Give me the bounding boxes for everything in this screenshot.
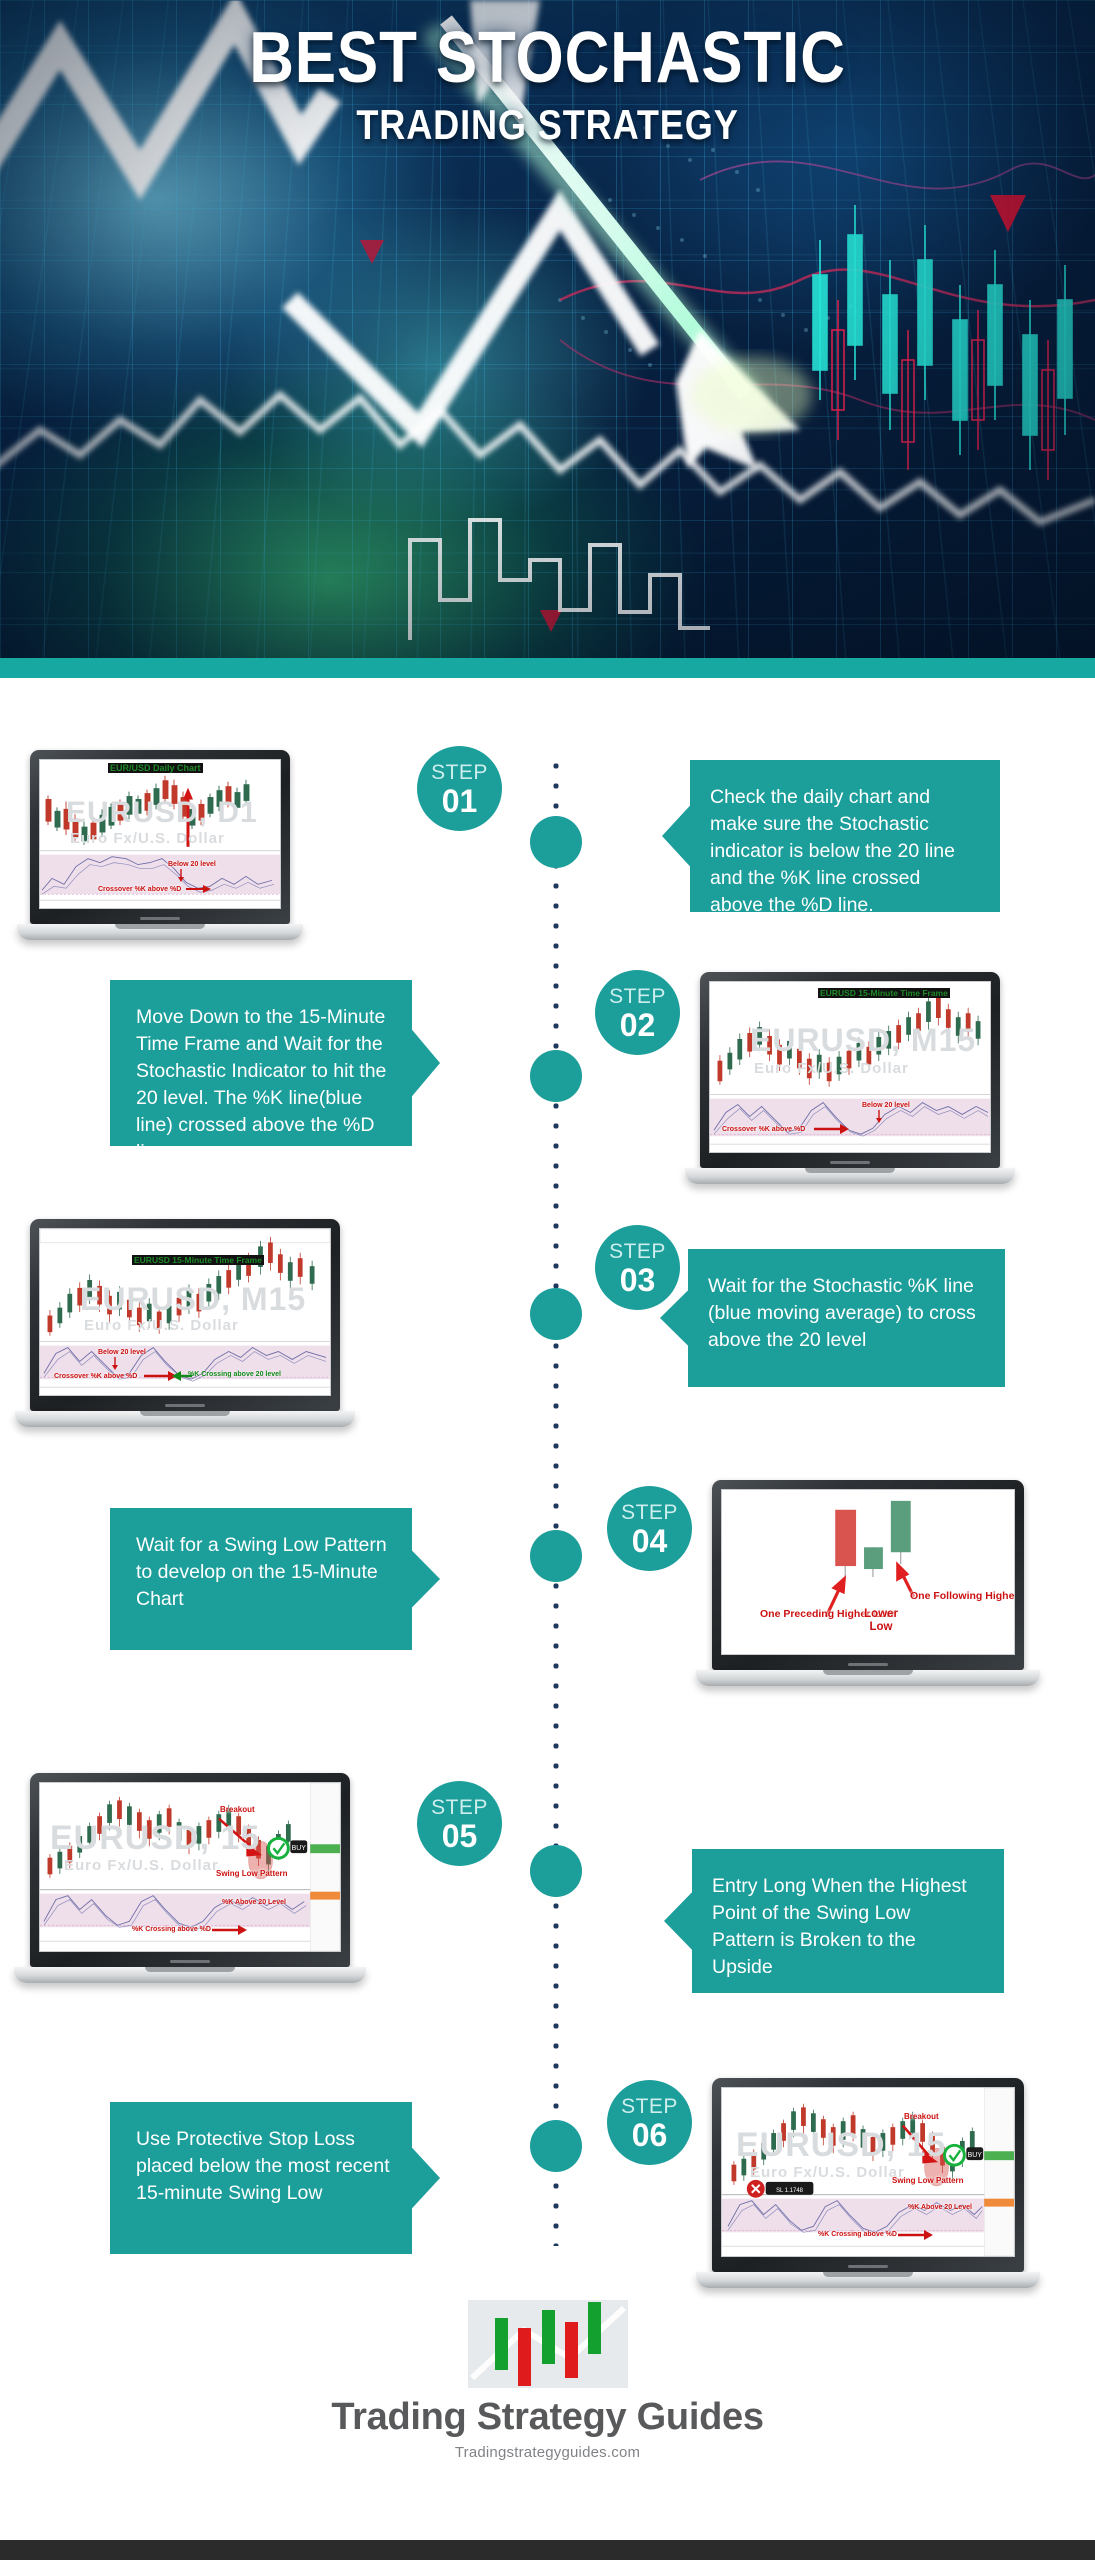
- step-badge-1: STEP 01: [417, 746, 502, 831]
- page-title: BEST STOCHASTIC: [77, 24, 1019, 93]
- step-callout-3: Wait for the Stochastic %K line (blue mo…: [660, 1249, 1005, 1387]
- step-badge-number-6: 06: [607, 2120, 692, 2150]
- annotation-k-crossing-5: %K Crossing above %D: [132, 1926, 211, 1933]
- laptop-base-6: [696, 2272, 1040, 2288]
- chart-screen-3: EURUSD 15-Minute Time Frame EURUSD, M15 …: [39, 1228, 331, 1396]
- brand-logo-icon: [468, 2300, 628, 2388]
- step-callout-4: Wait for a Swing Low Pattern to develop …: [110, 1508, 440, 1650]
- svg-text:SL 1.1748: SL 1.1748: [776, 2188, 804, 2194]
- chart-screen-2: EURUSD 15-Minute Time Frame EURUSD, M15 …: [709, 981, 991, 1153]
- step-badge-6: STEP 06: [607, 2080, 692, 2165]
- laptop-mockup-3: EURUSD 15-Minute Time Frame EURUSD, M15 …: [30, 1219, 340, 1427]
- step-badge-label-1: STEP: [417, 761, 502, 785]
- brand-url: Tradingstrategyguides.com: [0, 2444, 1095, 2461]
- chart-screen-5: BUY EURUSD, 15 Euro Fx/U.S. Dollar Break…: [39, 1782, 341, 1952]
- step-callout-6: Use Protective Stop Loss placed below th…: [110, 2102, 440, 2254]
- logo-candlestick-glyph: [468, 2300, 628, 2388]
- brand-name: Trading Strategy Guides: [0, 2396, 1095, 2439]
- timeline-node-1: [530, 816, 582, 868]
- hero-title-block: BEST STOCHASTIC TRADING STRATEGY: [0, 24, 1095, 149]
- step-badge-label-4: STEP: [607, 1501, 692, 1525]
- laptop-base-1: [17, 924, 303, 940]
- chart-label-title-3: EURUSD 15-Minute Time Frame: [132, 1255, 264, 1265]
- teal-divider-band: [0, 658, 1095, 678]
- laptop-mockup-6: BUY SL 1.1748 EURUSD, 15 Euro: [712, 2078, 1024, 2288]
- annotation-arrow-down-3: [106, 1357, 124, 1371]
- annotation-lower-low: Lower Low: [859, 1608, 903, 1634]
- step-badge-label-5: STEP: [417, 1796, 502, 1820]
- annotation-below-20-1: Below 20 level: [168, 861, 216, 868]
- step-badge-number-3: 03: [595, 1265, 680, 1295]
- step-badge-label-3: STEP: [595, 1240, 680, 1264]
- laptop-mockup-1: EUR/USD Daily Chart EURUSD, D1 Euro Fx/U…: [30, 750, 290, 940]
- annotation-k-above-20-5: %K Above 20 Level: [222, 1899, 286, 1906]
- step-callout-1: Check the daily chart and make sure the …: [662, 760, 1000, 912]
- svg-text:BUY: BUY: [292, 1845, 307, 1852]
- laptop-mockup-2: EURUSD 15-Minute Time Frame EURUSD, M15 …: [700, 972, 1000, 1184]
- laptop-mockup-4: One Preceding Higher Low Lower Low One F…: [712, 1480, 1024, 1686]
- step-badge-number-2: 02: [595, 1010, 680, 1040]
- annotation-arrow-right-1: [186, 884, 212, 894]
- step-badge-3: STEP 03: [595, 1225, 680, 1310]
- svg-text:BUY: BUY: [968, 2152, 983, 2159]
- annotation-arrow-right-2: [814, 1123, 850, 1135]
- annotation-k-above-20-6: %K Above 20 Level: [908, 2204, 972, 2211]
- annotation-arrow-right-6: [898, 2229, 934, 2241]
- chart-screen-6: BUY SL 1.1748 EURUSD, 15 Euro: [721, 2087, 1015, 2257]
- annotation-k-crossing-6: %K Crossing above %D: [818, 2231, 897, 2238]
- annotation-breakout-5: Breakout: [220, 1805, 255, 1814]
- annotation-arrow-down-1: [172, 869, 190, 883]
- annotation-arrow-right-5: [212, 1924, 248, 1936]
- annotation-breakout-6: Breakout: [904, 2112, 939, 2121]
- timeline-node-6: [530, 2120, 582, 2172]
- step-badge-4: STEP 04: [607, 1486, 692, 1571]
- timeline-dotted-line: [551, 756, 561, 2246]
- timeline-node-4: [530, 1530, 582, 1582]
- page-subtitle: TRADING STRATEGY: [77, 101, 1019, 149]
- annotation-below-20-3: Below 20 level: [98, 1349, 146, 1356]
- annotation-below-20-2: Below 20 level: [862, 1102, 910, 1109]
- annotation-following-higher-low: One Following Higher Low: [910, 1590, 1015, 1602]
- step-badge-label-2: STEP: [595, 985, 680, 1009]
- timeline-node-5: [530, 1845, 582, 1897]
- annotation-crossover-3: Crossover %K above %D: [54, 1373, 137, 1380]
- annotation-arrow-left-3: [172, 1370, 192, 1382]
- step-callout-2: Move Down to the 15-Minute Time Frame an…: [110, 980, 440, 1146]
- chart-label-title-2: EURUSD 15-Minute Time Frame: [818, 988, 950, 998]
- annotation-crossover-1: Crossover %K above %D: [98, 886, 181, 893]
- annotation-crossover-2: Crossover %K above %D: [722, 1126, 805, 1133]
- chart-screen-1: EUR/USD Daily Chart EURUSD, D1 Euro Fx/U…: [39, 759, 281, 909]
- step-badge-number-4: 04: [607, 1526, 692, 1556]
- laptop-base-2: [685, 1168, 1015, 1184]
- step-callout-5: Entry Long When the Highest Point of the…: [664, 1849, 1004, 1993]
- step-badge-label-6: STEP: [607, 2095, 692, 2119]
- chart-label-title-1: EUR/USD Daily Chart: [108, 763, 203, 773]
- annotation-k-above-20-3: %K Crossing above 20 level: [188, 1371, 281, 1378]
- hero-banner: BEST STOCHASTIC TRADING STRATEGY: [0, 0, 1095, 660]
- bottom-bar: [0, 2540, 1095, 2560]
- step-badge-number-1: 01: [417, 786, 502, 816]
- laptop-base-4: [696, 1670, 1040, 1686]
- laptop-mockup-5: BUY EURUSD, 15 Euro Fx/U.S. Dollar Break…: [30, 1773, 350, 1983]
- laptop-base-5: [14, 1967, 366, 1983]
- annotation-swing-low-5: Swing Low Pattern: [216, 1869, 288, 1878]
- laptop-base-3: [15, 1411, 355, 1427]
- step-badge-2: STEP 02: [595, 970, 680, 1055]
- step-badge-5: STEP 05: [417, 1781, 502, 1866]
- annotation-arrow-down-2: [870, 1110, 888, 1124]
- timeline-node-3: [530, 1288, 582, 1340]
- timeline-node-2: [530, 1050, 582, 1102]
- annotation-swing-low-6: Swing Low Pattern: [892, 2176, 964, 2185]
- step-badge-number-5: 05: [417, 1821, 502, 1851]
- swing-low-chart-screen-4: One Preceding Higher Low Lower Low One F…: [721, 1489, 1015, 1655]
- footer-branding: Trading Strategy Guides Tradingstrategyg…: [0, 2300, 1095, 2461]
